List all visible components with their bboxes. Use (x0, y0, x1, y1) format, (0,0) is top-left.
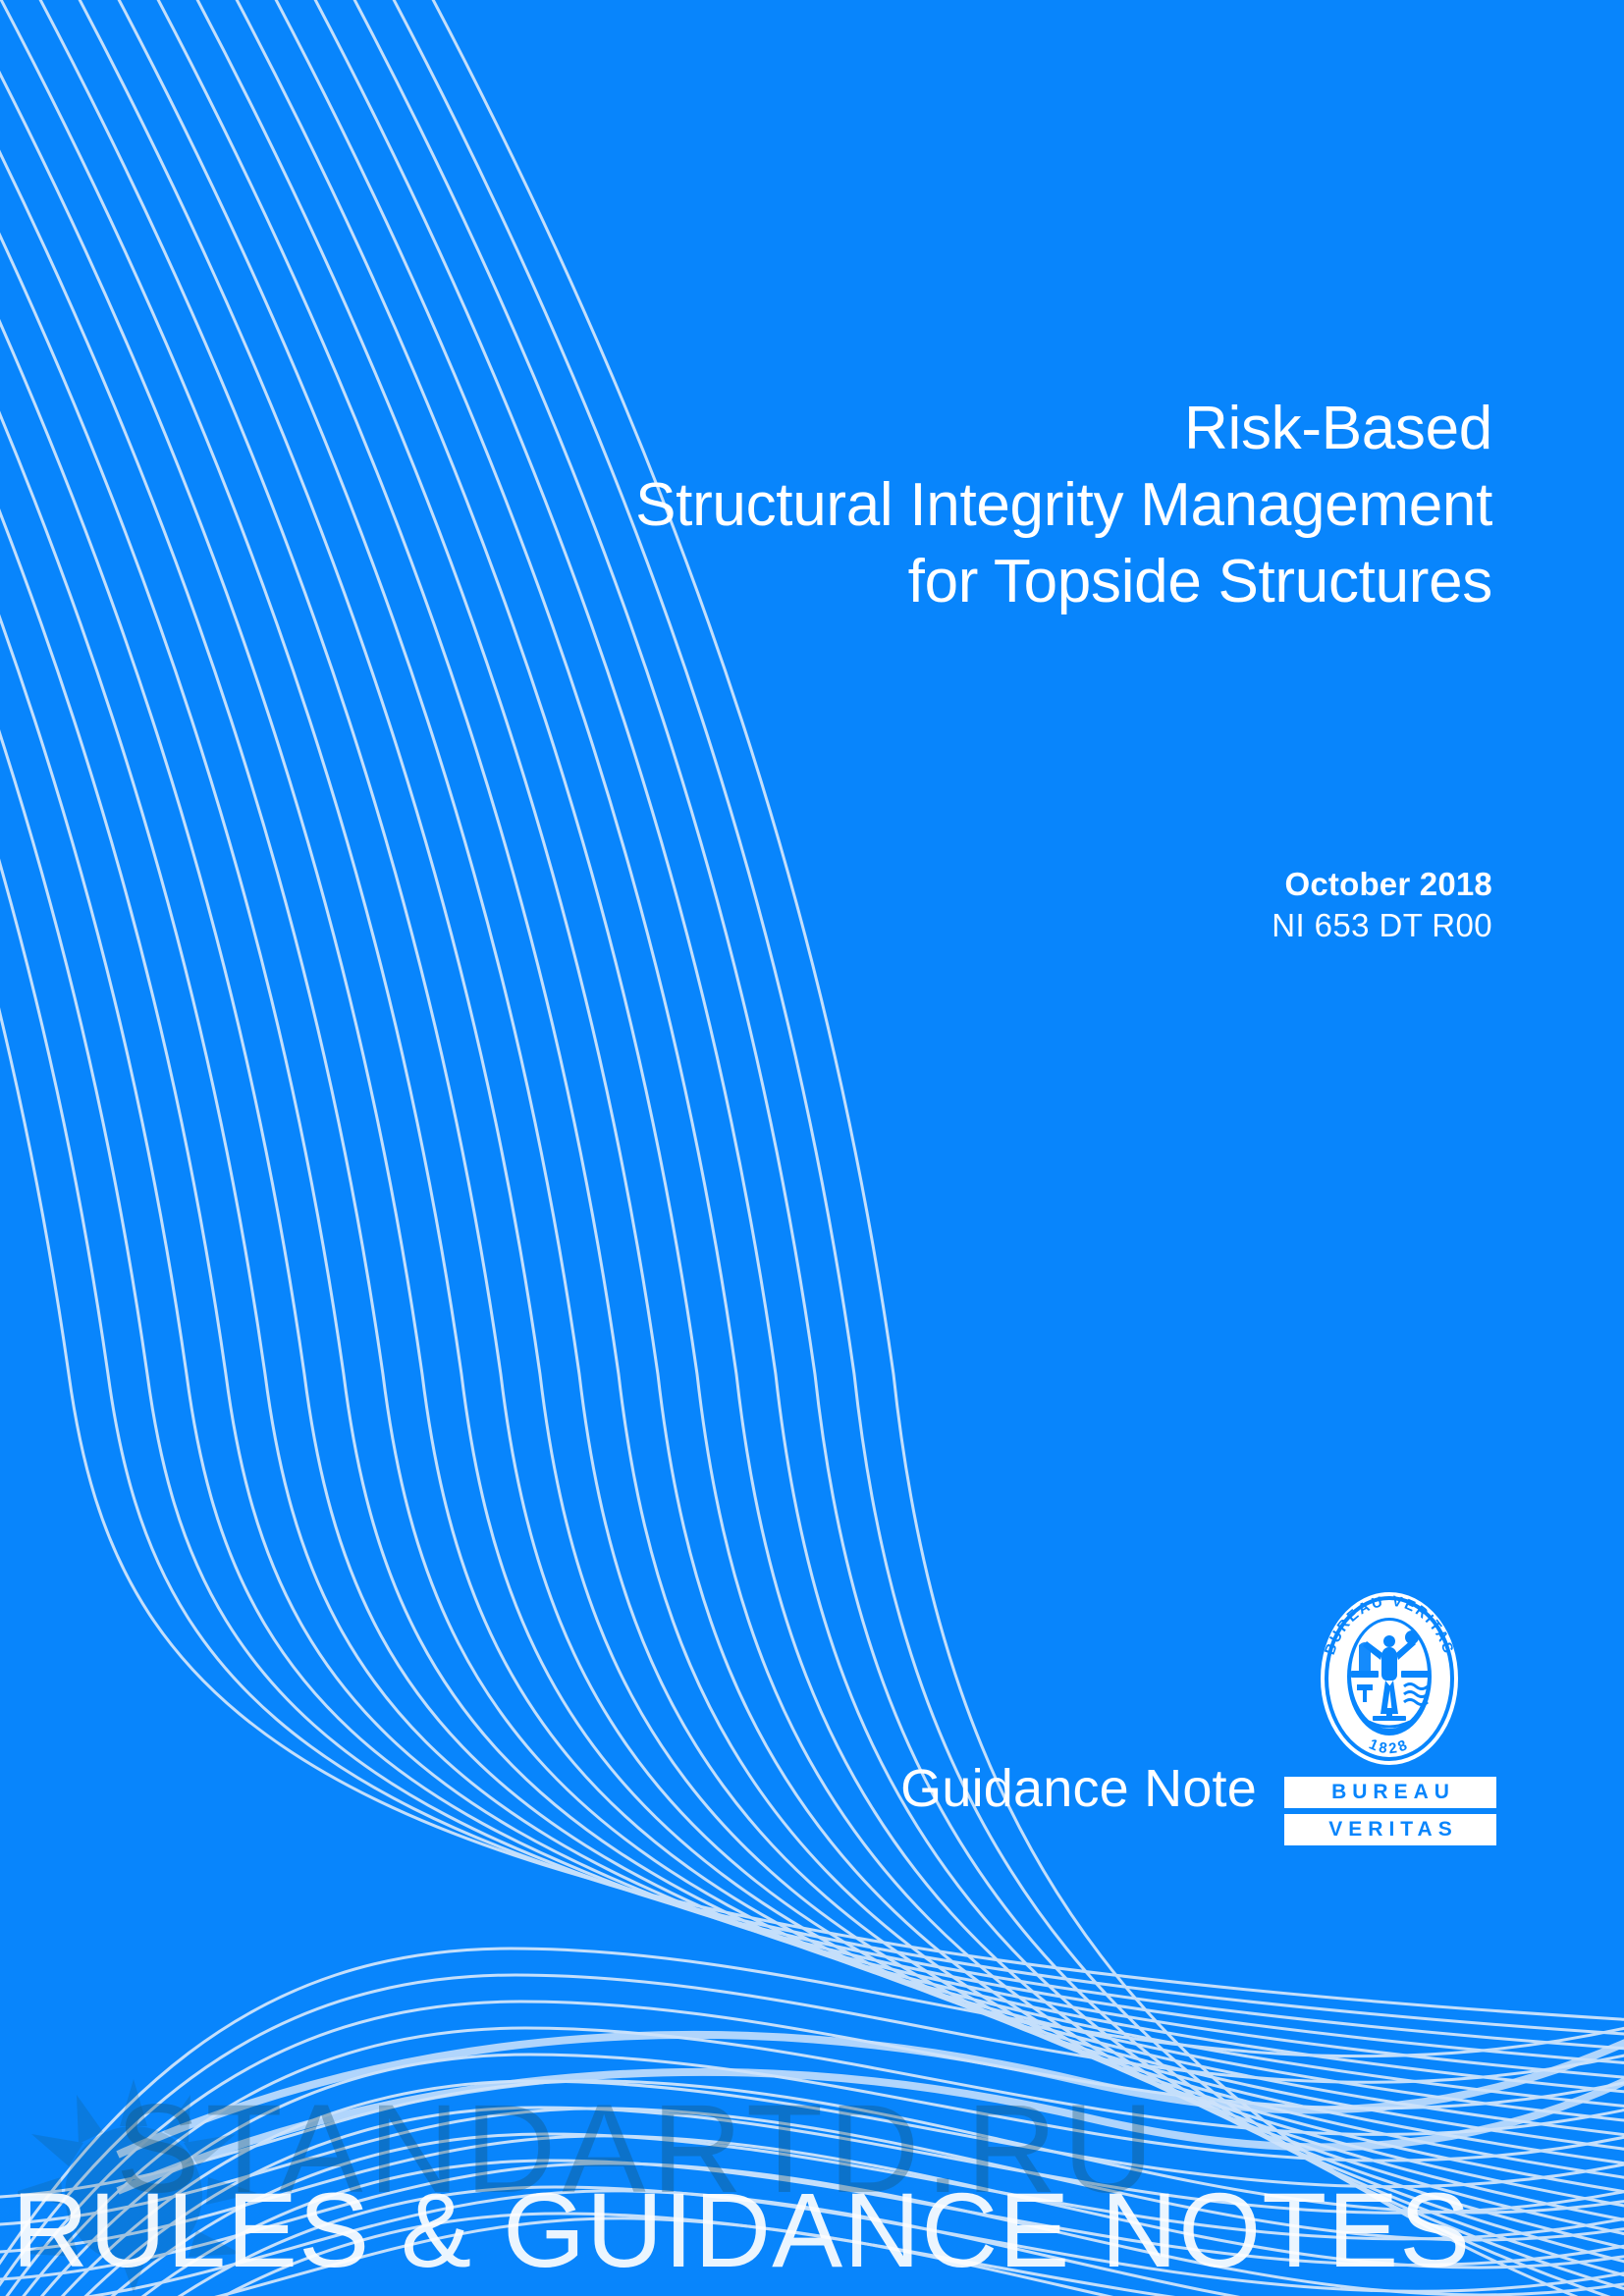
footer-series-label: RULES & GUIDANCE NOTES (12, 2175, 1622, 2285)
title-line-3: for Topside Structures (196, 544, 1492, 620)
document-reference: NI 653 DT R00 (589, 905, 1492, 946)
title-line-2: Structural Integrity Management (196, 467, 1492, 544)
background-line-art (0, 0, 1624, 2296)
title-line-1: Risk-Based (196, 391, 1492, 467)
document-cover-page: Risk-Based Structural Integrity Manageme… (0, 0, 1624, 2296)
wordmark-line-bureau: BUREAU (1284, 1777, 1496, 1808)
bureau-veritas-wordmark: BUREAU VERITAS (1284, 1777, 1496, 1847)
publication-info: October 2018 NI 653 DT R00 (589, 864, 1492, 946)
publication-date: October 2018 (589, 864, 1492, 905)
bureau-veritas-logo: BUREAU VERITAS 1828 (1284, 1584, 1496, 1849)
document-kind-label: Guidance Note (393, 1757, 1257, 1820)
cover-title: Risk-Based Structural Integrity Manageme… (196, 391, 1492, 620)
bureau-veritas-seal-icon: BUREAU VERITAS 1828 (1308, 1584, 1471, 1773)
wordmark-line-veritas: VERITAS (1284, 1814, 1496, 1845)
